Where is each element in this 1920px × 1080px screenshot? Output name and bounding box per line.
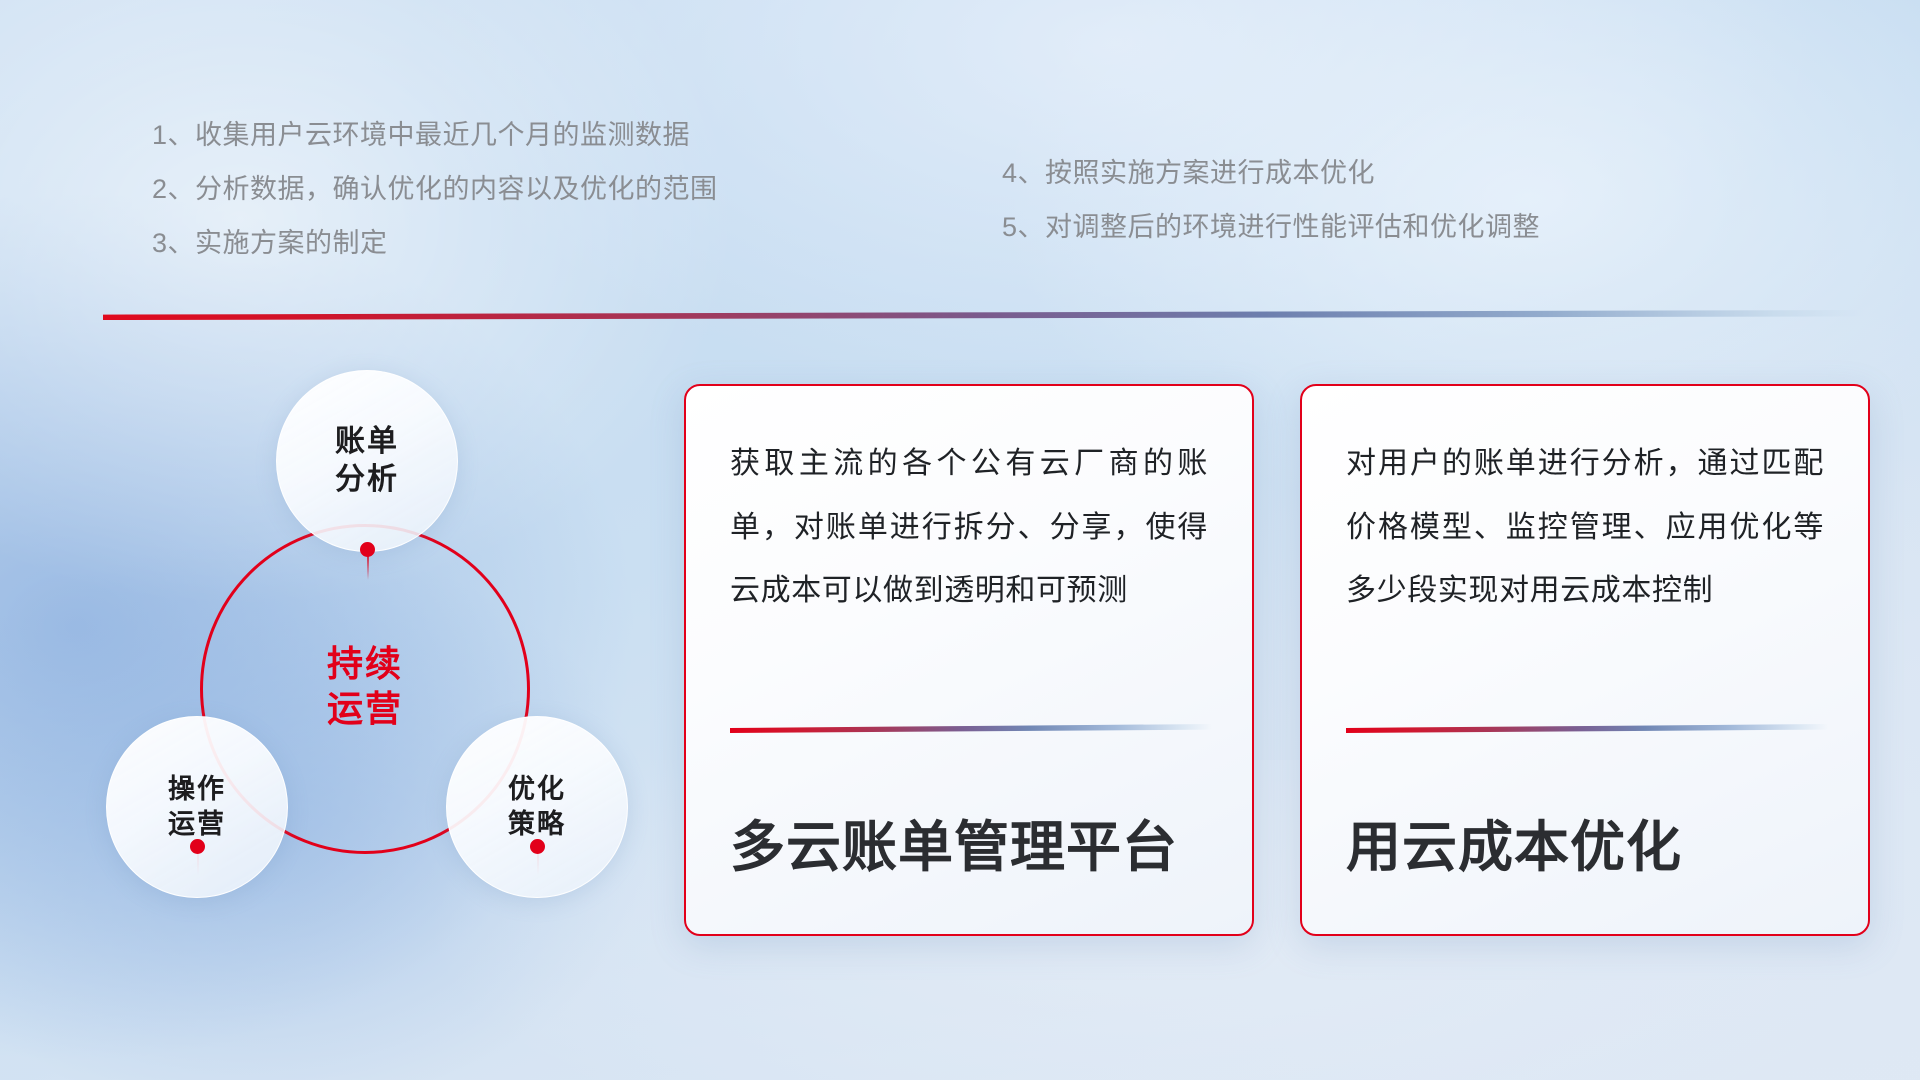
steps-list-right: 4、按照实施方案进行成本优化 5、对调整后的环境进行性能评估和优化调整 — [1002, 160, 1540, 268]
card-1-title: 多云账单管理平台 — [730, 802, 1178, 882]
bubble-bottom-left-line1: 操作 — [168, 772, 226, 807]
diagram-bubble-billing-analysis[interactable]: 账单 分析 — [276, 370, 458, 552]
center-label-line1: 持续 — [200, 642, 530, 687]
step-item-3: 3、实施方案的制定 — [152, 230, 718, 257]
bubble-top-line2: 分析 — [335, 461, 399, 499]
diagram-bubble-operations[interactable]: 操作 运营 — [106, 716, 288, 898]
step-item-5: 5、对调整后的环境进行性能评估和优化调整 — [1002, 214, 1540, 241]
card-2-title: 用云成本优化 — [1346, 802, 1682, 882]
main-divider-bar — [103, 310, 1863, 320]
feature-card-multicloud-billing[interactable]: 获取主流的各个公有云厂商的账单，对账单进行拆分、分享，使得云成本可以做到透明和可… — [684, 384, 1254, 936]
step-item-2: 2、分析数据，确认优化的内容以及优化的范围 — [152, 176, 718, 203]
diagram-node-dot-bottom-right — [530, 839, 545, 854]
bubble-bottom-left-line2: 运营 — [168, 807, 226, 842]
bubble-bottom-right-line1: 优化 — [508, 772, 566, 807]
step-item-4: 4、按照实施方案进行成本优化 — [1002, 160, 1540, 187]
bubble-bottom-right-line2: 策略 — [508, 807, 566, 842]
center-label-line2: 运营 — [200, 687, 530, 732]
slide-canvas: 1、收集用户云环境中最近几个月的监测数据 2、分析数据，确认优化的内容以及优化的… — [0, 0, 1920, 1080]
step-item-1: 1、收集用户云环境中最近几个月的监测数据 — [152, 122, 718, 149]
diagram-node-dot-bottom-left — [190, 839, 205, 854]
card-1-body-text: 获取主流的各个公有云厂商的账单，对账单进行拆分、分享，使得云成本可以做到透明和可… — [730, 432, 1208, 623]
steps-list-left: 1、收集用户云环境中最近几个月的监测数据 2、分析数据，确认优化的内容以及优化的… — [152, 122, 718, 284]
diagram-node-dot-top — [360, 542, 375, 557]
card-2-divider — [1346, 724, 1828, 733]
diagram-bubble-optimization-strategy[interactable]: 优化 策略 — [446, 716, 628, 898]
card-1-divider-bar — [730, 724, 1212, 733]
continuous-operation-diagram: 持续 运营 账单 分析 操作 运营 优化 策略 — [96, 352, 656, 952]
main-divider — [103, 310, 1863, 320]
card-2-divider-bar — [1346, 724, 1828, 733]
card-2-body-text: 对用户的账单进行分析，通过匹配价格模型、监控管理、应用优化等多少段实现对用云成本… — [1346, 432, 1824, 623]
card-1-divider — [730, 724, 1212, 733]
diagram-center-label: 持续 运营 — [200, 642, 530, 731]
feature-card-cloud-cost-optimization[interactable]: 对用户的账单进行分析，通过匹配价格模型、监控管理、应用优化等多少段实现对用云成本… — [1300, 384, 1870, 936]
bubble-top-line1: 账单 — [335, 423, 399, 461]
